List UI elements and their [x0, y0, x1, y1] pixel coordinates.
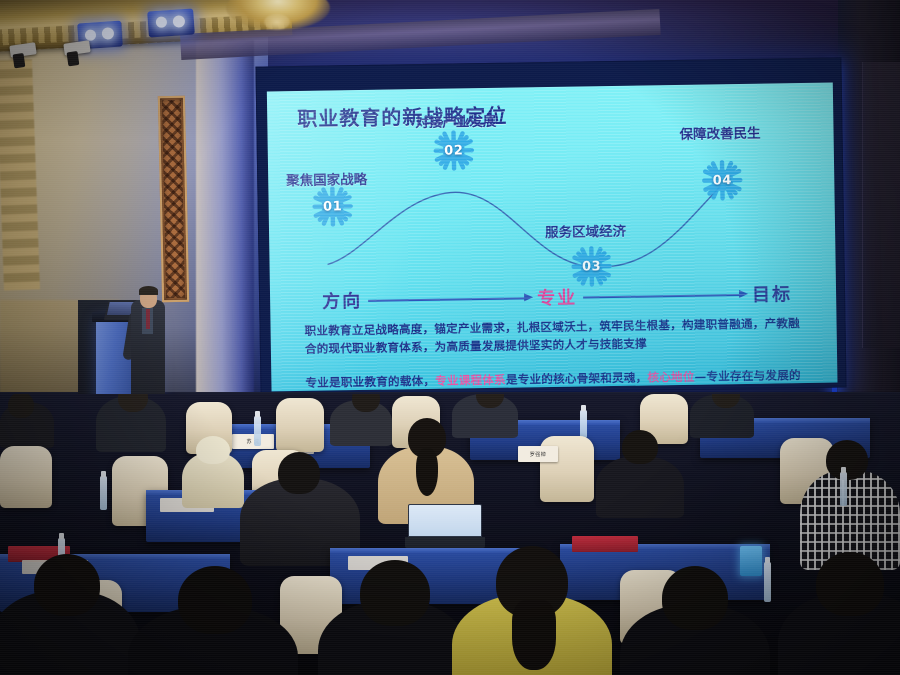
- water-bottle: [580, 410, 587, 438]
- audience-chair: [276, 398, 324, 452]
- attendee-head: [816, 552, 884, 616]
- water-bottle: [764, 562, 771, 602]
- paragraph-text: 专业是职业教育的载体，: [305, 374, 435, 390]
- water-bottle: [254, 416, 261, 446]
- triad-right: 目标: [752, 280, 792, 307]
- flow-node-label-01: 聚焦国家战略: [286, 168, 367, 189]
- table-namecard: 罗强棹: [518, 446, 558, 462]
- paragraph-text: 是专业的核心骨架和灵魂，: [506, 371, 648, 387]
- triad-left: 方向: [322, 287, 362, 314]
- stage-light-lens: [173, 15, 186, 28]
- slide-paragraph-2: 专业是职业教育的载体，专业课程体系是专业的核心骨架和灵魂，核心地位—专业存在与发…: [305, 367, 812, 391]
- flow-node-label-04: 保障改善民生: [679, 122, 760, 143]
- presenter-tie: [146, 309, 150, 329]
- paragraph-highlight: 专业课程体系: [435, 373, 506, 388]
- flow-node-01: 01: [310, 184, 355, 229]
- carved-wood-panel: [158, 96, 189, 303]
- attendee-head: [622, 430, 658, 464]
- laptop-screen: [408, 504, 482, 537]
- audience-chair: [0, 446, 52, 508]
- laptop-base: [405, 537, 485, 548]
- flow-node-number: 04: [700, 158, 745, 203]
- namecard-text: 罗强棹: [530, 451, 547, 458]
- attendee-head: [278, 452, 320, 494]
- triad-arrow-2: [577, 287, 752, 304]
- water-bottle: [100, 476, 107, 510]
- water-bottle: [840, 472, 847, 506]
- attendee-hat: [196, 436, 230, 464]
- paragraph-highlight: 核心地位: [647, 370, 694, 385]
- attendee-head: [826, 440, 868, 480]
- attendee-head: [662, 566, 728, 630]
- right-wall-panel: [862, 62, 900, 348]
- flow-node-number: 01: [310, 184, 355, 229]
- stage-light-lens: [102, 27, 115, 40]
- attendee-ponytail: [416, 448, 438, 496]
- attendee-laptop: [408, 504, 482, 548]
- stage-light-lens: [156, 16, 168, 28]
- table-cloth: [330, 548, 540, 553]
- wall-column: [196, 40, 254, 412]
- attendee-phone: [740, 546, 762, 576]
- presentation-slide: 职业教育的新战略定位: [267, 83, 838, 392]
- flow-node-label-02: 对接产业发展: [415, 110, 496, 131]
- attendee-head: [8, 394, 34, 418]
- stage-light-2: [147, 8, 195, 37]
- attendee-body: [596, 456, 684, 518]
- triad-arrow-1: [362, 290, 537, 307]
- led-screen-frame: 职业教育的新战略定位: [255, 57, 846, 396]
- table-namecard: 苏 沈: [232, 434, 274, 449]
- flow-node-label-03: 服务区域经济: [545, 220, 626, 241]
- attendee-head: [360, 560, 430, 626]
- red-folder: [572, 536, 638, 552]
- attendee-head: [178, 566, 252, 634]
- conference-photo-scene: 职业教育的新战略定位: [0, 0, 900, 675]
- attendee-head: [34, 554, 100, 616]
- attendee-ponytail: [512, 600, 556, 670]
- strategy-flow-diagram: 01 聚焦国家战略: [268, 129, 836, 278]
- triad-middle: 专业: [537, 284, 577, 311]
- presenter-hair: [139, 286, 158, 295]
- stage-light-lens: [85, 29, 97, 41]
- flow-node-number: 02: [431, 128, 476, 173]
- flow-node-04: 04: [700, 158, 745, 203]
- slide-paragraph-1: 职业教育立足战略高度，锚定产业需求，扎根区域沃土，筑牢民生根基，构建职普融通，产…: [304, 315, 811, 359]
- triad-row: 方向 专业 目标: [322, 279, 792, 314]
- flow-node-02: 02: [431, 128, 476, 173]
- audience-seating: 苏 沈 罗强棹: [0, 394, 900, 675]
